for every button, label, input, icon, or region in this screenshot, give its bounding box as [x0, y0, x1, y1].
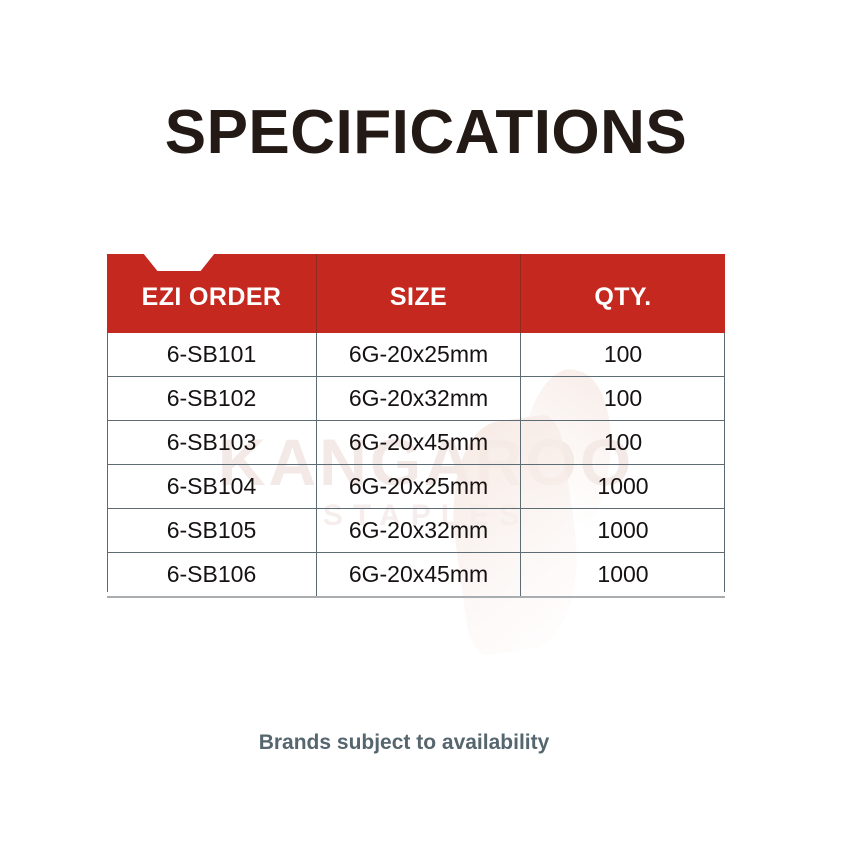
table-row: 6-SB104 6G-20x25mm 1000 — [107, 464, 725, 508]
column-header-size: SIZE — [316, 254, 520, 333]
column-header-ezi-order: EZI ORDER — [107, 254, 316, 333]
page-title: SPECIFICATIONS — [0, 97, 852, 168]
table-header-row: EZI ORDER SIZE QTY. — [107, 254, 725, 333]
availability-note: Brands subject to availability — [0, 731, 852, 755]
cell-qty: 100 — [520, 377, 725, 420]
cell-qty: 1000 — [520, 465, 725, 508]
cell-size: 6G-20x45mm — [316, 553, 520, 596]
cell-ezi-order: 6-SB106 — [107, 553, 316, 596]
cell-size: 6G-20x25mm — [316, 333, 520, 376]
cell-ezi-order: 6-SB102 — [107, 377, 316, 420]
cell-qty: 100 — [520, 421, 725, 464]
specifications-table: EZI ORDER SIZE QTY. 6-SB101 6G-20x25mm 1… — [107, 254, 725, 598]
cell-qty: 1000 — [520, 553, 725, 596]
cell-qty: 1000 — [520, 509, 725, 552]
cell-ezi-order: 6-SB105 — [107, 509, 316, 552]
specifications-page: KANGAROO STAPLES SPECIFICATIONS EZI ORDE… — [0, 0, 852, 852]
table-row: 6-SB102 6G-20x32mm 100 — [107, 376, 725, 420]
cell-ezi-order: 6-SB103 — [107, 421, 316, 464]
cell-ezi-order: 6-SB101 — [107, 333, 316, 376]
table-body: 6-SB101 6G-20x25mm 100 6-SB102 6G-20x32m… — [107, 333, 725, 598]
cell-ezi-order: 6-SB104 — [107, 465, 316, 508]
cell-size: 6G-20x32mm — [316, 509, 520, 552]
cell-size: 6G-20x32mm — [316, 377, 520, 420]
cell-size: 6G-20x25mm — [316, 465, 520, 508]
cell-size: 6G-20x45mm — [316, 421, 520, 464]
table-left-border — [107, 333, 108, 592]
table-row: 6-SB101 6G-20x25mm 100 — [107, 333, 725, 376]
table-right-border — [724, 333, 725, 592]
table-row: 6-SB106 6G-20x45mm 1000 — [107, 552, 725, 596]
table-row: 6-SB103 6G-20x45mm 100 — [107, 420, 725, 464]
column-header-qty: QTY. — [520, 254, 725, 333]
table-row: 6-SB105 6G-20x32mm 1000 — [107, 508, 725, 552]
cell-qty: 100 — [520, 333, 725, 376]
